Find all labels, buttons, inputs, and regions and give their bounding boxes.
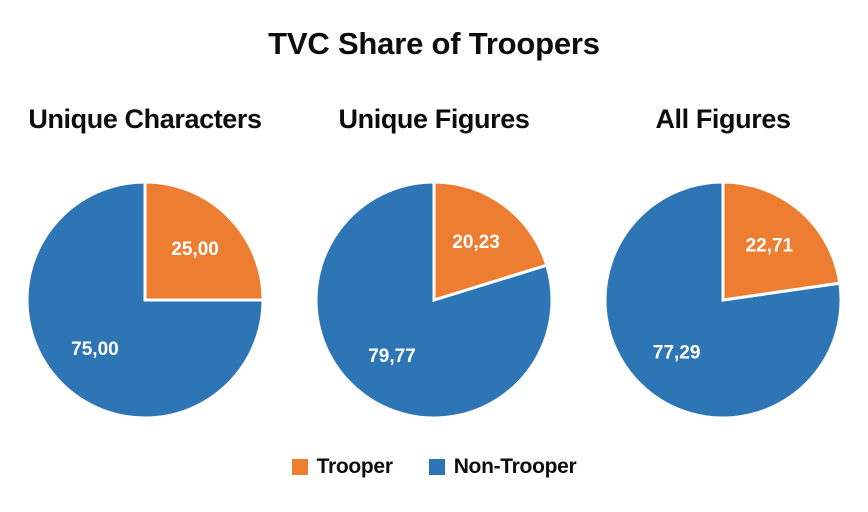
pie-slice-label-non-trooper: 77,29: [653, 343, 701, 364]
legend-label-trooper: Trooper: [317, 456, 393, 477]
pie-chart-unique-characters: 25,00 75,00: [25, 180, 265, 420]
pie-svg: 22,71 77,29: [603, 180, 843, 420]
legend-item-trooper[interactable]: Trooper: [292, 456, 393, 477]
pie-panel-title: Unique Figures: [289, 104, 579, 135]
pie-panel-title: Unique Characters: [0, 104, 290, 135]
pie-slices: [316, 182, 552, 418]
pie-slice-label-non-trooper: 79,77: [368, 346, 416, 367]
pie-slice-label-non-trooper: 75,00: [71, 339, 119, 360]
pie-panel-title: All Figures: [578, 104, 868, 135]
pie-chart-figure: TVC Share of Troopers Unique Characters …: [0, 0, 868, 512]
pie-panel-unique-characters: Unique Characters 25,00 75,00: [0, 100, 290, 430]
pie-svg: 20,23 79,77: [314, 180, 554, 420]
pie-slice-label-trooper: 25,00: [171, 239, 219, 260]
pie-svg: 25,00 75,00: [25, 180, 265, 420]
pie-chart-all-figures: 22,71 77,29: [603, 180, 843, 420]
pie-panel-unique-figures: Unique Figures 20,23 79,77: [289, 100, 579, 430]
pie-slices: [27, 182, 263, 418]
pie-panels-container: Unique Characters 25,00 75,00 Unique Fig…: [0, 100, 868, 430]
pie-panel-all-figures: All Figures 22,71 77,29: [578, 100, 868, 430]
pie-slice-label-trooper: 22,71: [746, 235, 794, 256]
legend-label-non-trooper: Non-Trooper: [454, 456, 577, 477]
pie-slice-label-trooper: 20,23: [452, 232, 500, 253]
chart-title: TVC Share of Troopers: [0, 26, 868, 62]
legend-item-non-trooper[interactable]: Non-Trooper: [429, 456, 577, 477]
pie-chart-unique-figures: 20,23 79,77: [314, 180, 554, 420]
legend-swatch-non-trooper: [429, 459, 445, 475]
chart-legend: Trooper Non-Trooper: [0, 456, 868, 477]
legend-swatch-trooper: [292, 459, 308, 475]
pie-slices: [605, 182, 841, 418]
